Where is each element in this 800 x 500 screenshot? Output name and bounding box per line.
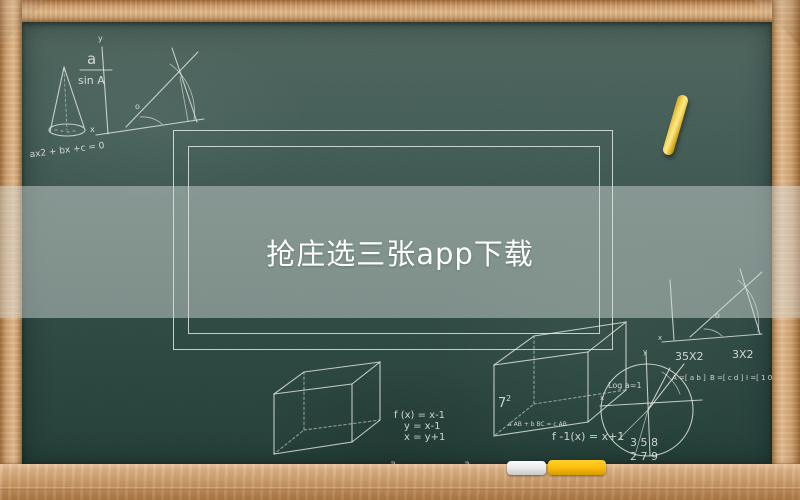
headline-band: 抢庄选三张app下载 xyxy=(0,186,800,318)
chalkboard-banner: y x o a sin A ax2 + bx +c = 0 o x xyxy=(0,0,800,500)
chalk-ledge xyxy=(0,464,800,500)
page-title: 抢庄选三张app下载 xyxy=(266,231,534,273)
frame-top xyxy=(0,0,800,22)
chalk-box xyxy=(548,460,606,475)
eraser xyxy=(507,461,546,475)
ledge-lip xyxy=(0,487,800,490)
